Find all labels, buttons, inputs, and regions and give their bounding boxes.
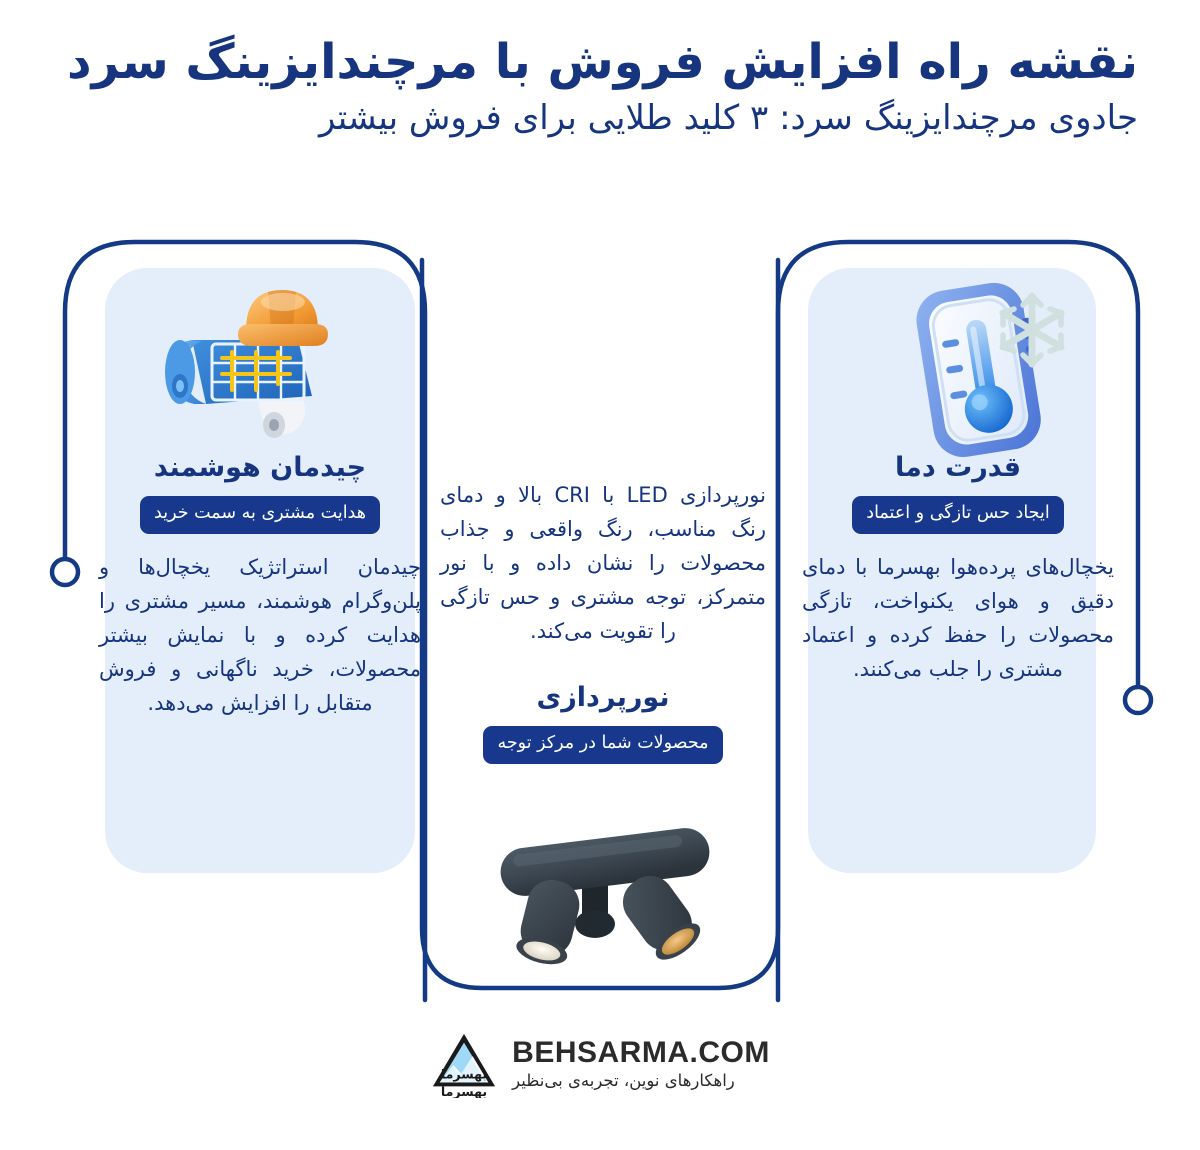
brand-tagline: راهکارهای نوین، تجربه‌ی بی‌نظیر bbox=[512, 1071, 770, 1091]
card-badge-lighting: محصولات شما در مرکز توجه bbox=[483, 726, 722, 764]
behsarma-logo-icon: بهسرما بهسرما bbox=[430, 1030, 498, 1098]
card-body-lighting: نورپردازی LED با CRI بالا و دمای رنگ منا… bbox=[440, 478, 766, 648]
card-badge-temperature-power: ایجاد حس تازگی و اعتماد bbox=[852, 496, 1063, 534]
card-body-temperature-power: یخچال‌های پرده‌هوا بهسرما با دمای دقیق و… bbox=[802, 550, 1114, 686]
page-title: نقشه راه افزایش فروش با مرچندایزینگ سرد bbox=[62, 34, 1138, 91]
card-title-lighting: نورپردازی bbox=[440, 682, 766, 714]
thermometer-snowflake-icon bbox=[880, 270, 1080, 460]
footer-text-block: BEHSARMA.COM راهکارهای نوین، تجربه‌ی بی‌… bbox=[512, 1037, 770, 1091]
card-badge-smart-layout: هدایت مشتری به سمت خرید bbox=[140, 496, 380, 534]
blueprint-hardhat-icon bbox=[150, 278, 350, 468]
card-title-temperature-power: قدرت دما bbox=[800, 452, 1116, 484]
infographic-canvas: نقشه راه افزایش فروش با مرچندایزینگ سرد … bbox=[0, 0, 1200, 1150]
card-lighting: نورپردازی LED با CRI بالا و دمای رنگ منا… bbox=[440, 478, 766, 764]
logo-wordmark-top: بهسرما bbox=[441, 1067, 487, 1082]
card-smart-layout: چیدمان هوشمند هدایت مشتری به سمت خرید چی… bbox=[97, 452, 423, 720]
card-title-smart-layout: چیدمان هوشمند bbox=[97, 452, 423, 484]
spotlight-track-icon bbox=[480, 818, 730, 978]
card-body-smart-layout: چیدمان استراتژیک یخچال‌ها و پلن‌وگرام هو… bbox=[99, 550, 421, 720]
footer: BEHSARMA.COM راهکارهای نوین، تجربه‌ی بی‌… bbox=[0, 1030, 1200, 1098]
header: نقشه راه افزایش فروش با مرچندایزینگ سرد … bbox=[0, 34, 1200, 139]
card-temperature-power: قدرت دما ایجاد حس تازگی و اعتماد یخچال‌ه… bbox=[800, 452, 1116, 686]
left-connector-dot bbox=[52, 559, 78, 585]
page-subtitle: جادوی مرچندایزینگ سرد: ۳ کلید طلایی برای… bbox=[62, 97, 1138, 140]
logo-wordmark: بهسرما bbox=[441, 1084, 487, 1098]
right-connector-dot bbox=[1125, 687, 1151, 713]
brand-name: BEHSARMA.COM bbox=[512, 1037, 770, 1069]
